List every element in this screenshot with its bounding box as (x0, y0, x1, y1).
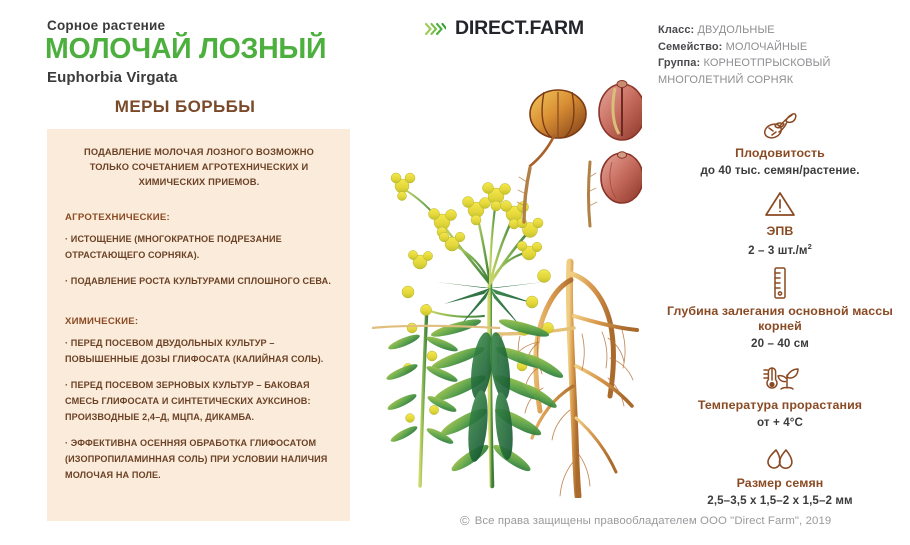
panel-lead-text: ПОДАВЛЕНИЕ МОЛОЧАЯ ЛОЗНОГО ВОЗМОЖНО ТОЛЬ… (65, 145, 333, 190)
fact-value: от + 4°C (650, 415, 910, 430)
left-column: Сорное растение МОЛОЧАЙ ЛОЗНЫЙ Euphorbia… (0, 0, 370, 545)
fact-seed-size: Размер семян 2,5–3,5 x 1,5–2 x 1,5–2 мм (650, 434, 910, 508)
copyright-text: Все права защищены правообладателем ООО … (475, 515, 832, 527)
plant-illustration (372, 66, 642, 498)
logo-text: DIRECT.FARM (455, 17, 584, 40)
kicker-label: Сорное растение (47, 18, 165, 33)
taxonomy-row: Класс: ДВУДОЛЬНЫЕ (658, 22, 910, 39)
fact-title: Глубина залегания основной массы корней (650, 304, 910, 335)
control-measures-panel: ПОДАВЛЕНИЕ МОЛОЧАЯ ЛОЗНОГО ВОЗМОЖНО ТОЛЬ… (47, 129, 350, 521)
warning-triangle-icon (763, 188, 797, 220)
two-seeds-icon (762, 444, 798, 472)
taxonomy-row: Семейство: МОЛОЧАЙНЫЕ (658, 39, 910, 56)
list-item: · ИСТОЩЕНИЕ (МНОГОКРАТНОЕ ПОДРЕЗАНИЕ ОТР… (65, 232, 333, 263)
taxonomy-label: Семейство: (658, 41, 722, 53)
taxonomy-row: Группа: КОРНЕОТПРЫСКОВЫЙ (658, 55, 910, 72)
list-item: · ПЕРЕД ПОСЕВОМ ЗЕРНОВЫХ КУЛЬТУР – БАКОВ… (65, 378, 333, 425)
fact-title: Температура прорастания (650, 398, 910, 413)
list-item: · ПОДАВЛЕНИЕ РОСТА КУЛЬТУРАМИ СПЛОШНОГО … (65, 274, 333, 290)
fact-value: 2 – 3 шт./м2 (650, 242, 910, 258)
fact-title: ЭПВ (650, 224, 910, 239)
agrotechnical-heading: АГРОТЕХНИЧЕСКИЕ: (65, 212, 333, 223)
botanical-watercolor-svg (372, 66, 642, 498)
taxonomy-value: ДВУДОЛЬНЫЕ (697, 24, 774, 36)
ruler-icon (769, 266, 791, 300)
taxonomy-value: МОЛОЧАЙНЫЕ (726, 41, 808, 53)
fact-value: 2,5–3,5 x 1,5–2 x 1,5–2 мм (650, 493, 910, 508)
seed-stalk-details (517, 162, 597, 226)
list-item: · ЭФФЕКТИВНА ОСЕННЯЯ ОБРАБОТКА ГЛИФОСАТО… (65, 436, 333, 483)
chevron-waves-icon (424, 20, 446, 38)
right-column: Класс: ДВУДОЛЬНЫЕ Семейство: МОЛОЧАЙНЫЕ … (650, 0, 910, 545)
fact-value: до 40 тыс. семян/растение. (650, 163, 910, 178)
list-item: · ПЕРЕД ПОСЕВОМ ДВУДОЛЬНЫХ КУЛЬТУР – ПОВ… (65, 336, 333, 367)
taxonomy-label: Класс: (658, 24, 694, 36)
sprouting-seed-icon (760, 108, 800, 142)
facts-list: Плодовитость до 40 тыс. семян/растение. … (650, 104, 910, 512)
thermometer-sprout-icon (757, 360, 803, 394)
plant-latin-name: Euphorbia Virgata (47, 69, 178, 86)
section-title-measures: МЕРЫ БОРЬБЫ (0, 97, 370, 117)
fact-germination-temp: Температура прорастания от + 4°C (650, 356, 910, 430)
taxonomy-value-continuation: МНОГОЛЕТНИЙ СОРНЯК (658, 72, 910, 89)
taxonomy-value: КОРНЕОТПРЫСКОВЫЙ (703, 57, 830, 69)
copyright-footer: © Все права защищены правообладателем ОО… (460, 513, 831, 528)
copyright-icon: © (460, 513, 470, 528)
taxonomy-block: Класс: ДВУДОЛЬНЫЕ Семейство: МОЛОЧАЙНЫЕ … (658, 22, 910, 89)
fact-title: Размер семян (650, 476, 910, 491)
fact-fertility: Плодовитость до 40 тыс. семян/растение. (650, 104, 910, 178)
seed-detail-studies (530, 81, 642, 204)
brand-logo[interactable]: DIRECT.FARM (424, 17, 584, 40)
fact-epv: ЭПВ 2 – 3 шт./м2 (650, 182, 910, 257)
chemical-heading: ХИМИЧЕСКИЕ: (65, 316, 333, 327)
taxonomy-label: Группа: (658, 57, 700, 69)
soil-line (372, 326, 500, 328)
fact-value: 20 – 40 см (650, 336, 910, 351)
fact-value-superscript: 2 (808, 242, 812, 251)
page-title: МОЛОЧАЙ ЛОЗНЫЙ (45, 35, 326, 65)
fact-root-depth: Глубина залегания основной массы корней … (650, 262, 910, 352)
infographic-page: Сорное растение МОЛОЧАЙ ЛОЗНЫЙ Euphorbia… (0, 0, 910, 545)
fact-title: Плодовитость (650, 146, 910, 161)
